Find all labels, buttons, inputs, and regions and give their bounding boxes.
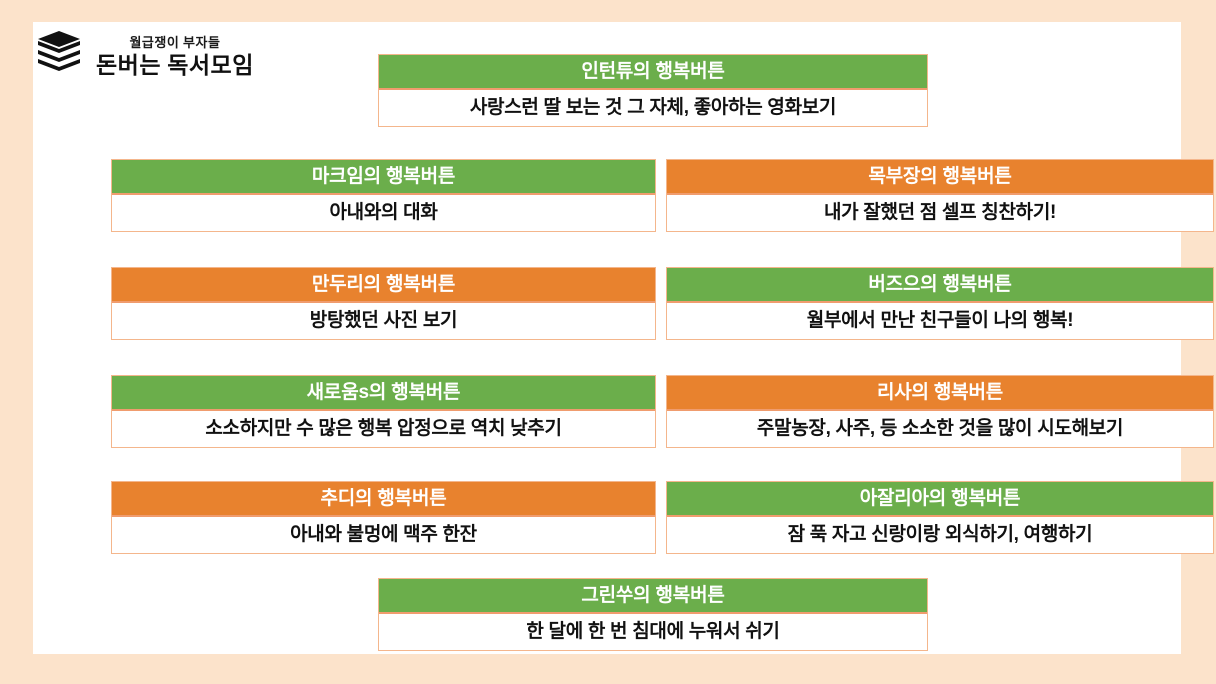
card-header-manduri: 만두리의 행복버튼 — [112, 268, 655, 301]
card-body-mark-im: 아내와의 대화 — [112, 195, 655, 231]
card-body-azalea: 잠 푹 자고 신랑이랑 외식하기, 여행하기 — [667, 517, 1213, 553]
brand-subtitle: 월급쟁이 부자들 — [129, 36, 220, 49]
card-body-risa: 주말농장, 사주, 등 소소한 것을 많이 시도해보기 — [667, 411, 1213, 447]
happiness-card-mok-bujang: 목부장의 행복버튼내가 잘했던 점 셀프 칭찬하기! — [666, 159, 1214, 232]
card-body-beozeueu: 월부에서 만난 친구들이 나의 행복! — [667, 303, 1213, 339]
card-body-mok-bujang: 내가 잘했던 점 셀프 칭찬하기! — [667, 195, 1213, 231]
card-body-manduri: 방탕했던 사진 보기 — [112, 303, 655, 339]
happiness-card-saeroums: 새로움s의 행복버튼소소하지만 수 많은 행복 압정으로 역치 낮추기 — [111, 375, 656, 448]
card-body-saeroums: 소소하지만 수 많은 행복 압정으로 역치 낮추기 — [112, 411, 655, 447]
slide-panel: 월급쟁이 부자들 돈버는 독서모임 인턴튜의 행복버튼사랑스런 딸 보는 것 그… — [33, 22, 1181, 654]
happiness-card-mark-im: 마크임의 행복버튼아내와의 대화 — [111, 159, 656, 232]
card-header-mark-im: 마크임의 행복버튼 — [112, 160, 655, 193]
card-header-chudi: 추디의 행복버튼 — [112, 482, 655, 515]
happiness-card-greensso: 그린쑤의 행복버튼한 달에 한 번 침대에 누워서 쉬기 — [378, 578, 928, 651]
brand-text: 월급쟁이 부자들 돈버는 독서모임 — [96, 36, 254, 77]
stacked-books-icon — [36, 30, 82, 82]
card-header-saeroums: 새로움s의 행복버튼 — [112, 376, 655, 409]
card-header-mok-bujang: 목부장의 행복버튼 — [667, 160, 1213, 193]
slide-canvas: 월급쟁이 부자들 돈버는 독서모임 인턴튜의 행복버튼사랑스런 딸 보는 것 그… — [0, 0, 1216, 684]
card-header-azalea: 아잘리아의 행복버튼 — [667, 482, 1213, 515]
happiness-card-manduri: 만두리의 행복버튼방탕했던 사진 보기 — [111, 267, 656, 340]
happiness-card-beozeueu: 버즈으의 행복버튼월부에서 만난 친구들이 나의 행복! — [666, 267, 1214, 340]
brand-title: 돈버는 독서모임 — [96, 54, 254, 77]
card-header-intern-ryu: 인턴튜의 행복버튼 — [379, 55, 927, 88]
card-header-risa: 리사의 행복버튼 — [667, 376, 1213, 409]
card-body-intern-ryu: 사랑스런 딸 보는 것 그 자체, 좋아하는 영화보기 — [379, 90, 927, 126]
card-header-greensso: 그린쑤의 행복버튼 — [379, 579, 927, 612]
card-body-chudi: 아내와 불멍에 맥주 한잔 — [112, 517, 655, 553]
brand-logo-block: 월급쟁이 부자들 돈버는 독서모임 — [36, 30, 254, 82]
card-body-greensso: 한 달에 한 번 침대에 누워서 쉬기 — [379, 614, 927, 650]
card-header-beozeueu: 버즈으의 행복버튼 — [667, 268, 1213, 301]
happiness-card-azalea: 아잘리아의 행복버튼잠 푹 자고 신랑이랑 외식하기, 여행하기 — [666, 481, 1214, 554]
happiness-card-risa: 리사의 행복버튼주말농장, 사주, 등 소소한 것을 많이 시도해보기 — [666, 375, 1214, 448]
happiness-card-intern-ryu: 인턴튜의 행복버튼사랑스런 딸 보는 것 그 자체, 좋아하는 영화보기 — [378, 54, 928, 127]
happiness-card-chudi: 추디의 행복버튼아내와 불멍에 맥주 한잔 — [111, 481, 656, 554]
